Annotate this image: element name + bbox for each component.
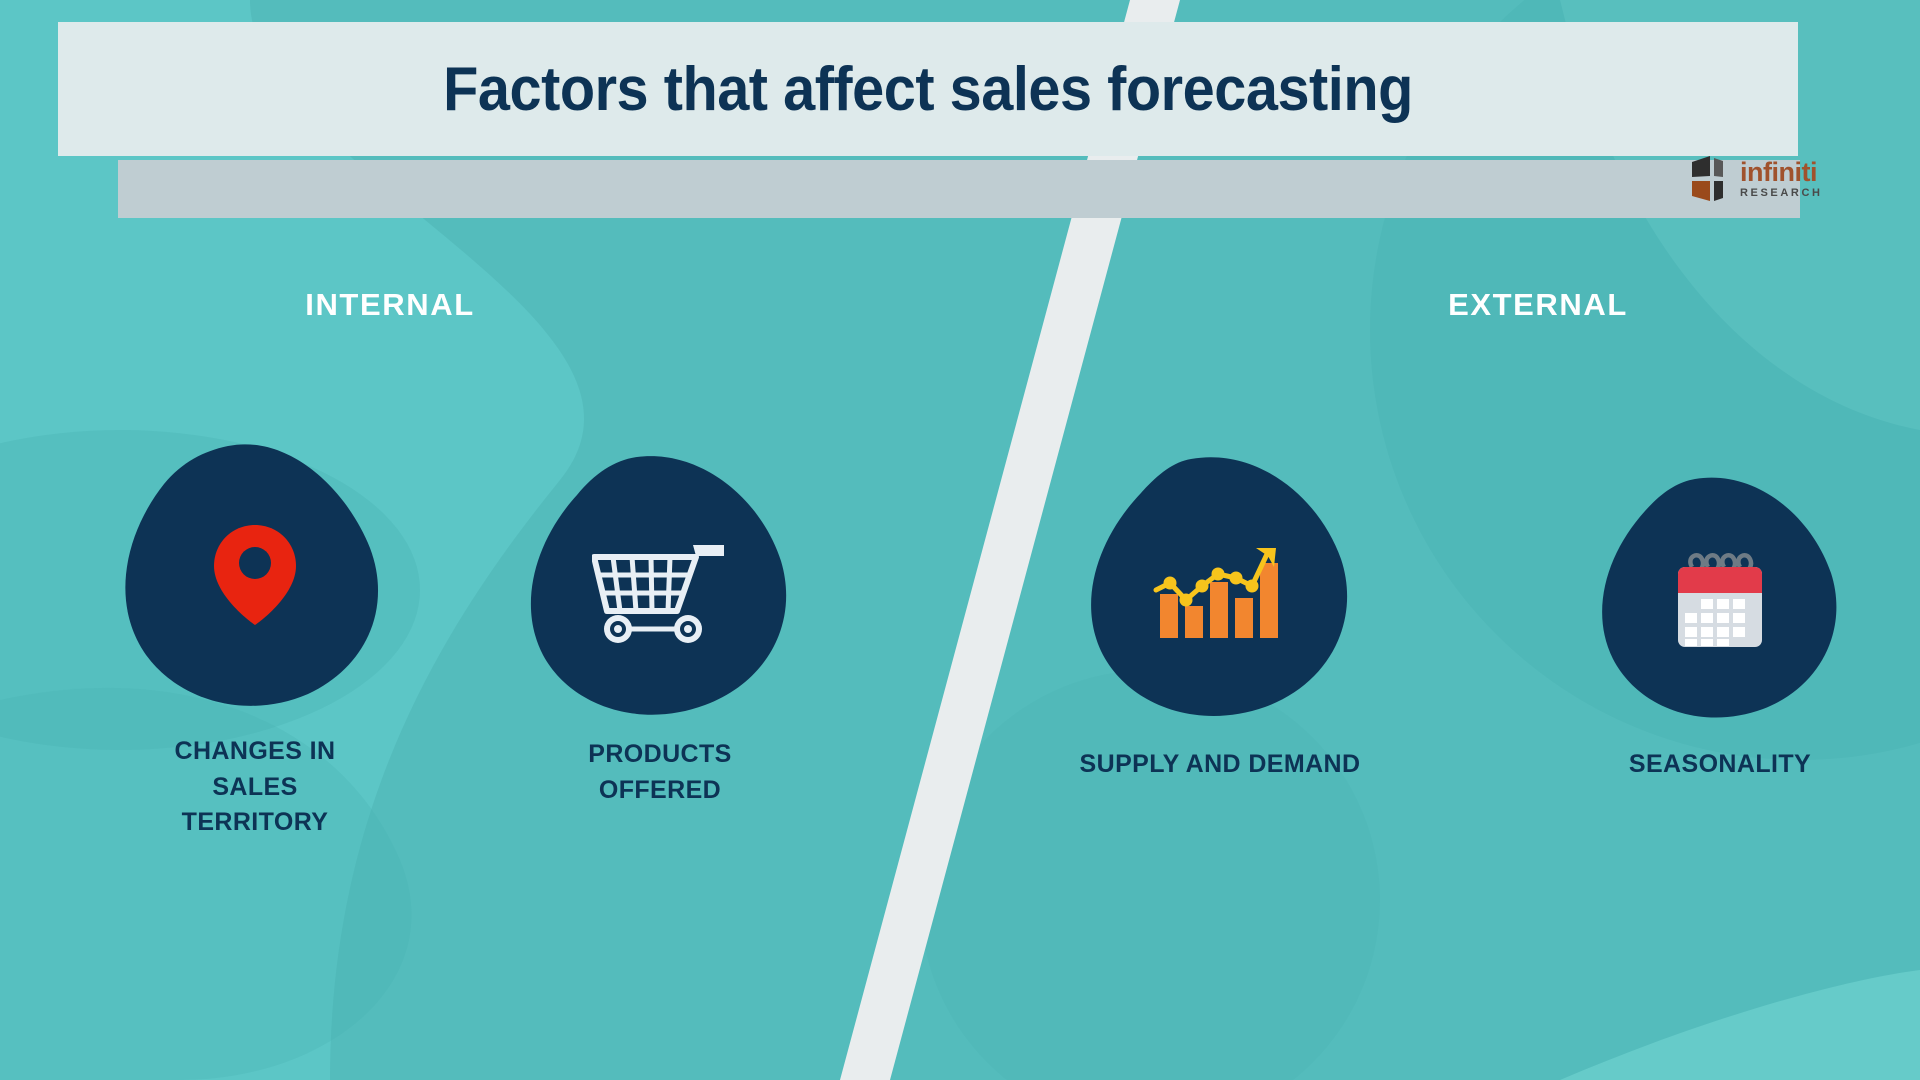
icon-blob-territory xyxy=(120,440,390,710)
map-pin-icon xyxy=(210,521,300,629)
infographic-canvas: Factors that affect sales forecasting in… xyxy=(0,0,1920,1080)
title-shadow-bar xyxy=(118,160,1800,218)
logo-wordmark: infiniti RESEARCH xyxy=(1740,159,1823,199)
icon-blob-seasonality xyxy=(1595,475,1845,725)
logo-subtitle: RESEARCH xyxy=(1740,188,1823,199)
factor-products-offered[interactable]: PRODUCTS OFFERED xyxy=(525,455,795,808)
icon-blob-supply xyxy=(1085,455,1355,725)
shopping-cart-icon xyxy=(592,535,728,645)
factor-label-territory: CHANGES IN SALES TERRITORY xyxy=(175,734,336,841)
factor-label-seasonality: SEASONALITY xyxy=(1629,747,1811,783)
factor-supply-and-demand[interactable]: SUPPLY AND DEMAND xyxy=(1085,455,1355,783)
page-title: Factors that affect sales forecasting xyxy=(119,22,1737,156)
factor-label-supply: SUPPLY AND DEMAND xyxy=(1080,747,1361,783)
icon-blob-products xyxy=(525,455,795,725)
brand-logo: infiniti RESEARCH xyxy=(1690,152,1838,206)
factor-changes-in-sales-territory[interactable]: CHANGES IN SALES TERRITORY xyxy=(120,440,390,841)
factor-label-products: PRODUCTS OFFERED xyxy=(588,737,731,808)
section-label-internal: INTERNAL xyxy=(280,287,500,323)
window-pane-logo-icon xyxy=(1690,156,1732,202)
logo-name: infiniti xyxy=(1740,159,1823,186)
factor-seasonality[interactable]: SEASONALITY xyxy=(1595,475,1845,783)
title-banner: Factors that affect sales forecasting xyxy=(58,22,1798,156)
section-label-external: EXTERNAL xyxy=(1408,287,1668,323)
calendar-icon xyxy=(1670,547,1770,653)
bar-chart-growth-icon xyxy=(1152,538,1288,642)
